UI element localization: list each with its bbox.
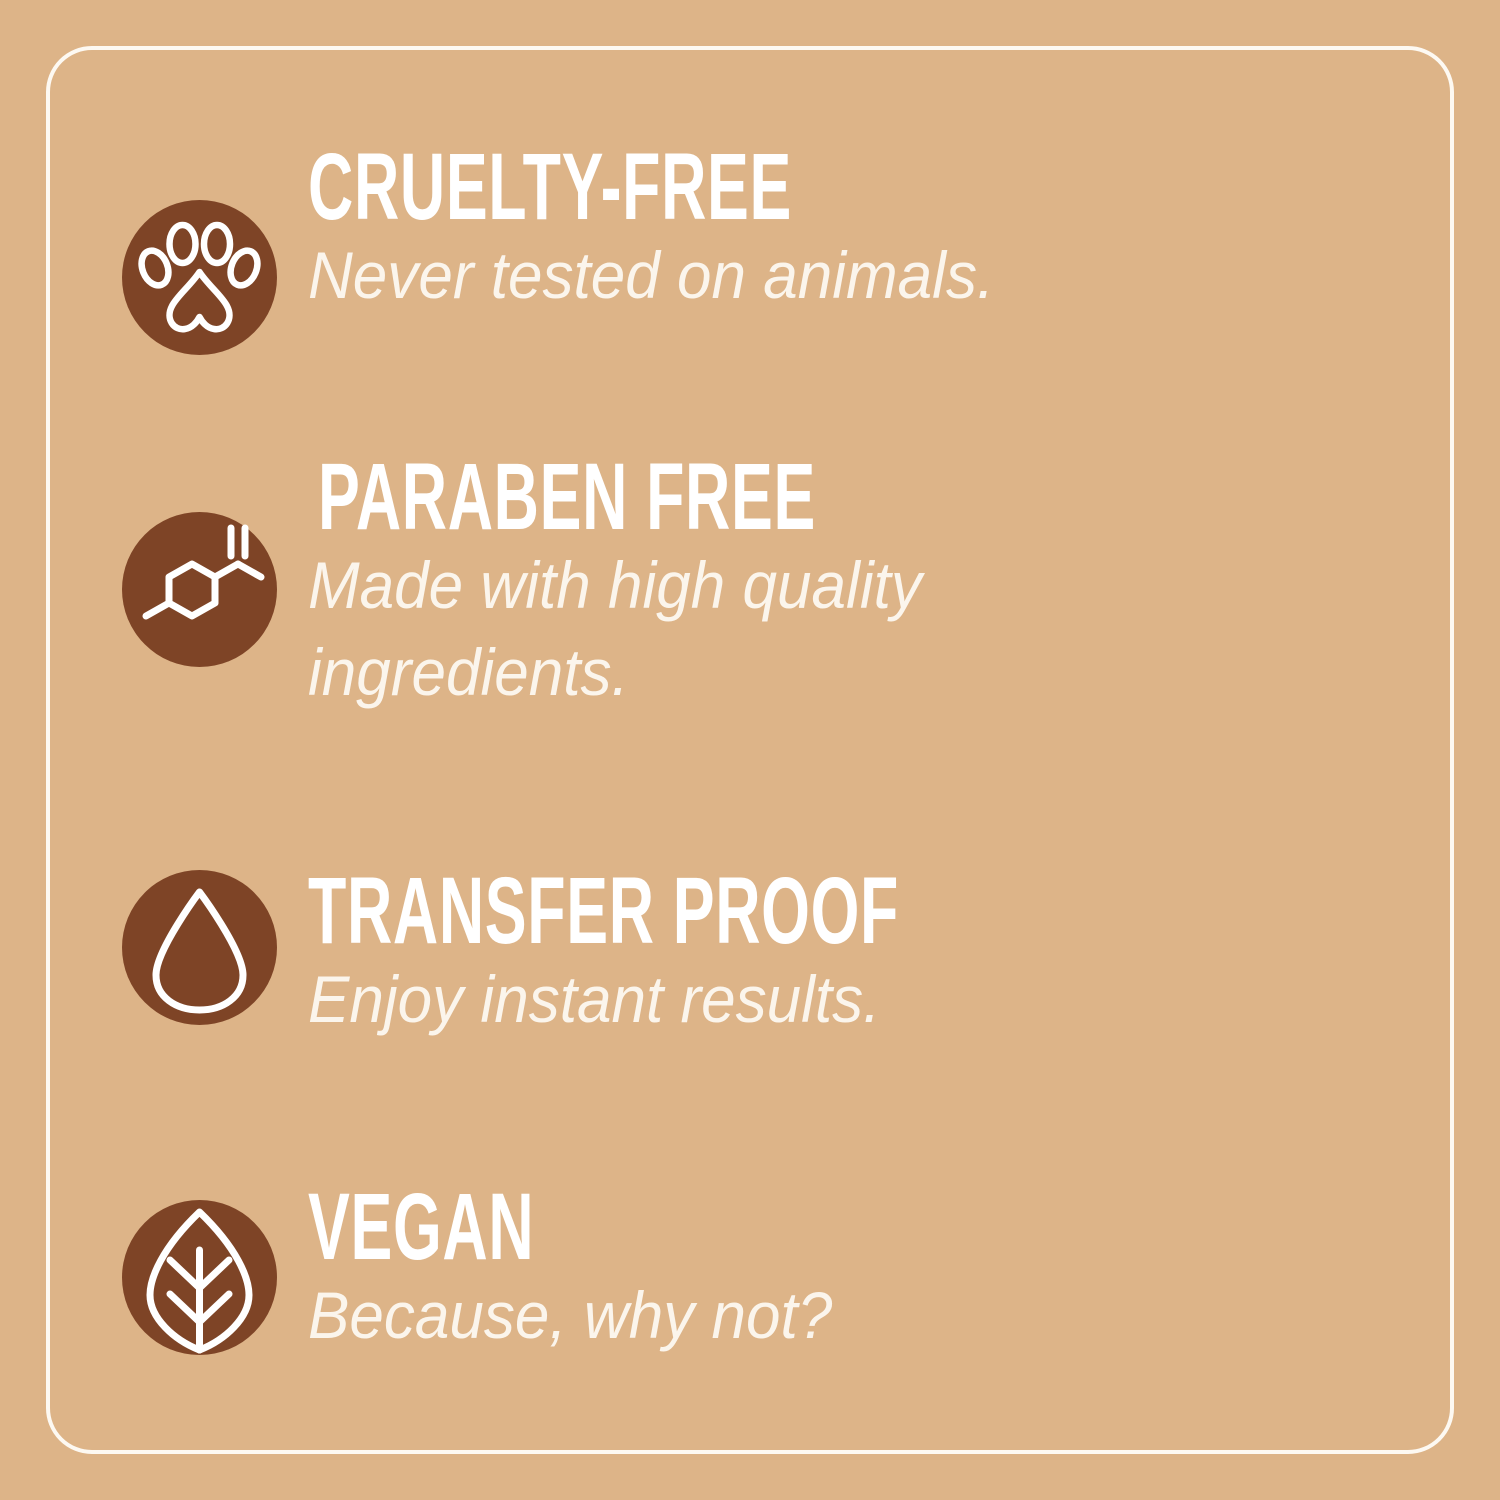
feature-description: Made with high quality ingredients. <box>308 542 1351 716</box>
feature-text-transfer-proof: TRANSFER PROOF Enjoy instant results. <box>308 866 1408 1043</box>
feature-title: VEGAN <box>308 1182 1034 1272</box>
feature-description-line: Enjoy instant results. <box>308 956 1342 1043</box>
water-drop-icon <box>122 870 277 1025</box>
feature-description-line: Made with high quality <box>308 542 1351 629</box>
feature-title: CRUELTY-FREE <box>308 142 1034 232</box>
feature-description: Enjoy instant results. <box>308 956 1342 1043</box>
feature-title: PARABEN FREE <box>318 452 1044 542</box>
feature-list: CRUELTY-FREE Never tested on animals. <box>0 0 1500 1500</box>
feature-description-line: ingredients. <box>308 629 1351 716</box>
feature-description: Never tested on animals. <box>308 232 1342 319</box>
feature-description-line: Because, why not? <box>308 1272 1342 1359</box>
feature-title: TRANSFER PROOF <box>308 866 1034 956</box>
feature-text-cruelty-free: CRUELTY-FREE Never tested on animals. <box>308 142 1408 319</box>
feature-text-vegan: VEGAN Because, why not? <box>308 1182 1408 1359</box>
feature-benefits-poster: CRUELTY-FREE Never tested on animals. <box>0 0 1500 1500</box>
feature-description: Because, why not? <box>308 1272 1342 1359</box>
feature-text-paraben-free: PARABEN FREE Made with high quality ingr… <box>318 452 1418 716</box>
paw-print-icon <box>122 200 277 355</box>
leaf-icon <box>122 1200 277 1355</box>
feature-description-line: Never tested on animals. <box>308 232 1342 319</box>
molecule-icon <box>122 512 277 667</box>
